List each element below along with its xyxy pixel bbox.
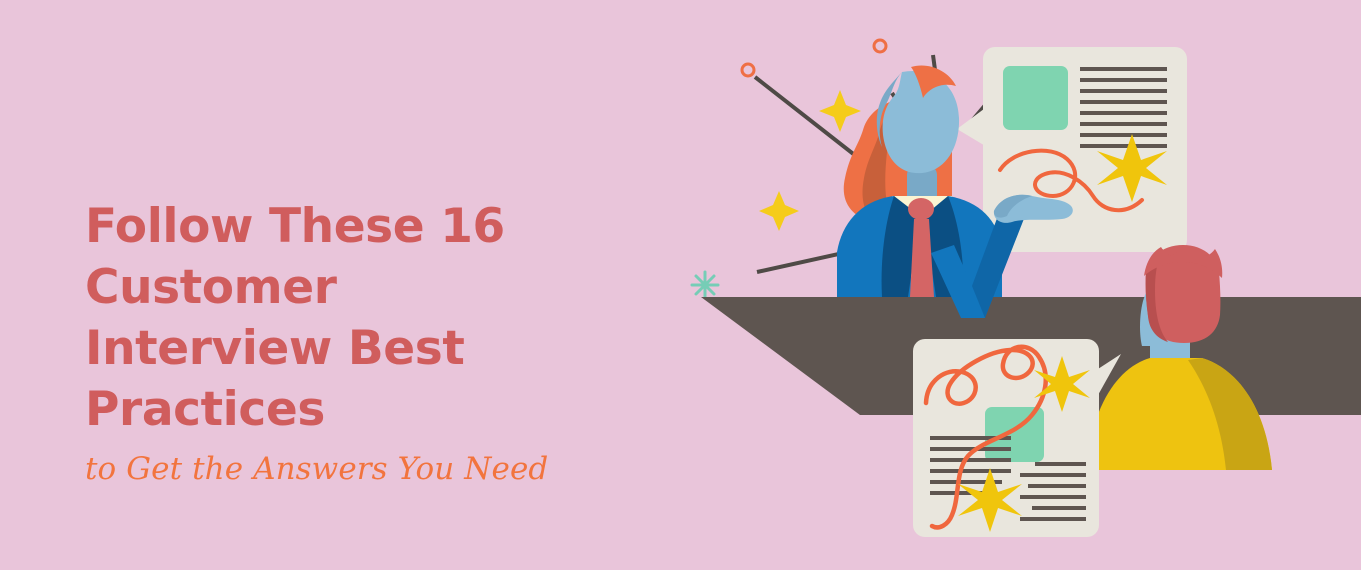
customer-interview-illustration <box>680 0 1361 570</box>
card-image-placeholder-bottom <box>985 407 1044 462</box>
sparkle-icon-group <box>759 90 861 231</box>
decorative-circles <box>742 40 886 76</box>
card-image-placeholder-top <box>1003 66 1068 130</box>
page-title: Follow These 16 Customer Interview Best … <box>85 196 705 440</box>
blog-header-banner: Follow These 16 Customer Interview Best … <box>0 0 1361 570</box>
page-subtitle: to Get the Answers You Need <box>85 452 705 486</box>
headline-block: Follow These 16 Customer Interview Best … <box>85 196 705 486</box>
